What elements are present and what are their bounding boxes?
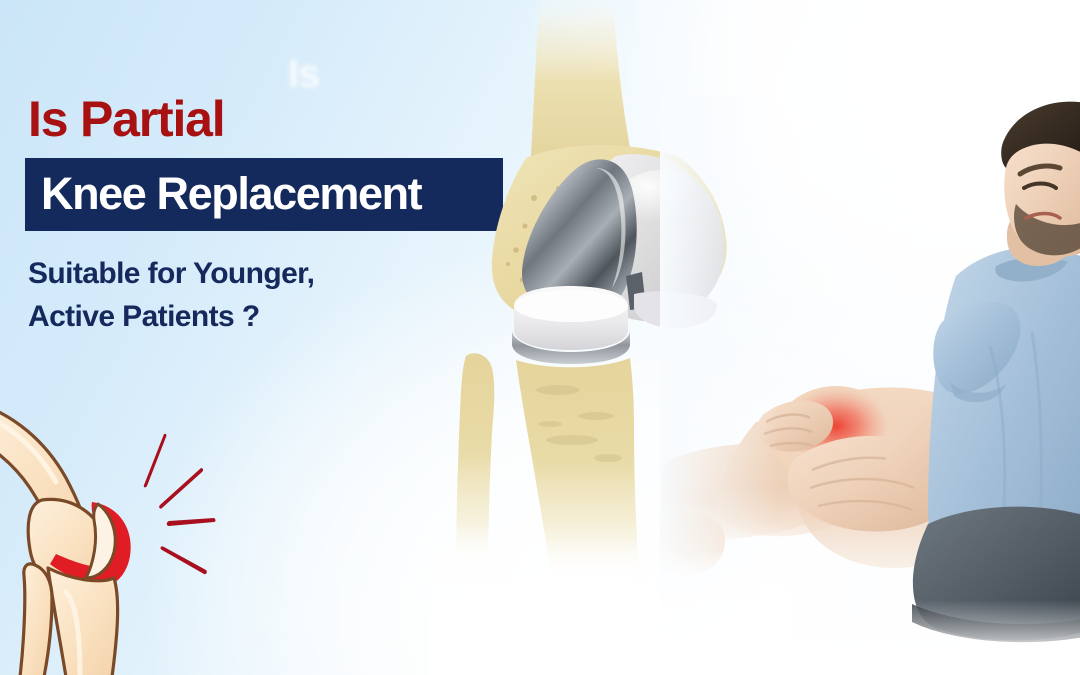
patient-knee-pain-photo	[660, 96, 1080, 675]
watermark-text: Is	[288, 52, 319, 97]
banner-root: Is Is Partial Knee Replacement Suitable …	[0, 0, 1080, 675]
headline-line-2: Knee Replacement	[41, 171, 487, 216]
pain-radiating-lines	[144, 434, 216, 574]
knee-pain-illustration-icon	[0, 392, 234, 675]
